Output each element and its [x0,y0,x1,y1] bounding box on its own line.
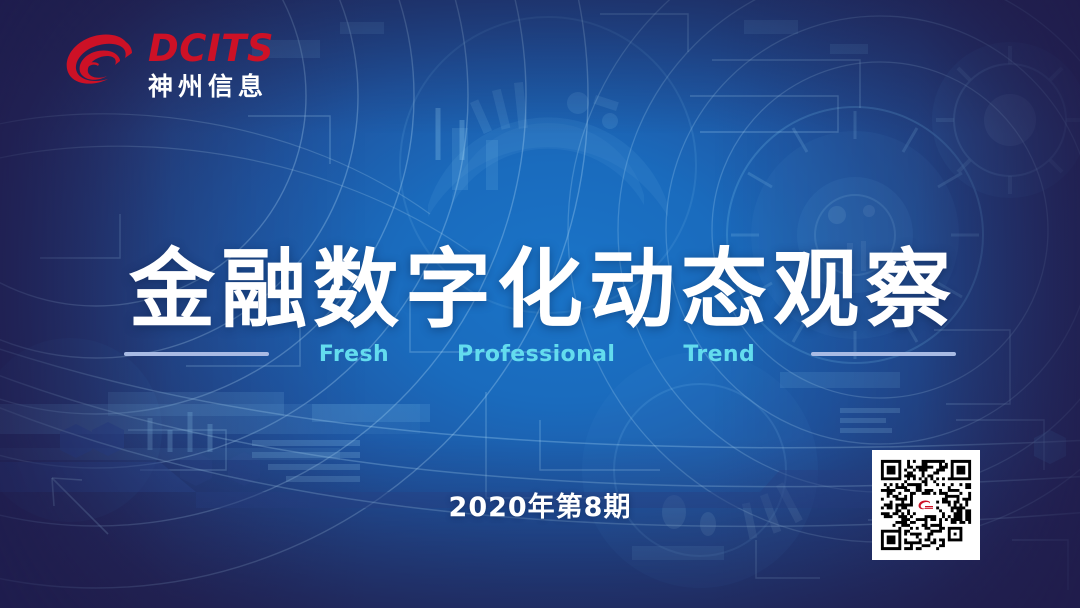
dcits-swirl-icon [62,28,136,100]
keyword-fresh: Fresh [319,342,389,367]
poster-title: 金融数字化动态观察 [0,242,1080,338]
wechat-qr-code[interactable] [872,450,980,560]
brand-logo-text: DCITS 神州信息 [148,30,274,99]
keyword-rule-left [124,352,269,356]
brand-name-en: DCITS [148,30,274,67]
poster-canvas: DCITS 神州信息 金融数字化动态观察 Fresh Professional … [0,0,1080,608]
brand-name-cn: 神州信息 [148,74,274,99]
qr-center-logo-icon [916,498,936,513]
keyword-row: Fresh Professional Trend [0,340,1080,368]
keyword-rule-right [811,352,956,356]
keyword-professional: Professional [457,342,615,367]
brand-logo: DCITS 神州信息 [62,28,274,100]
keyword-trend: Trend [683,342,755,367]
